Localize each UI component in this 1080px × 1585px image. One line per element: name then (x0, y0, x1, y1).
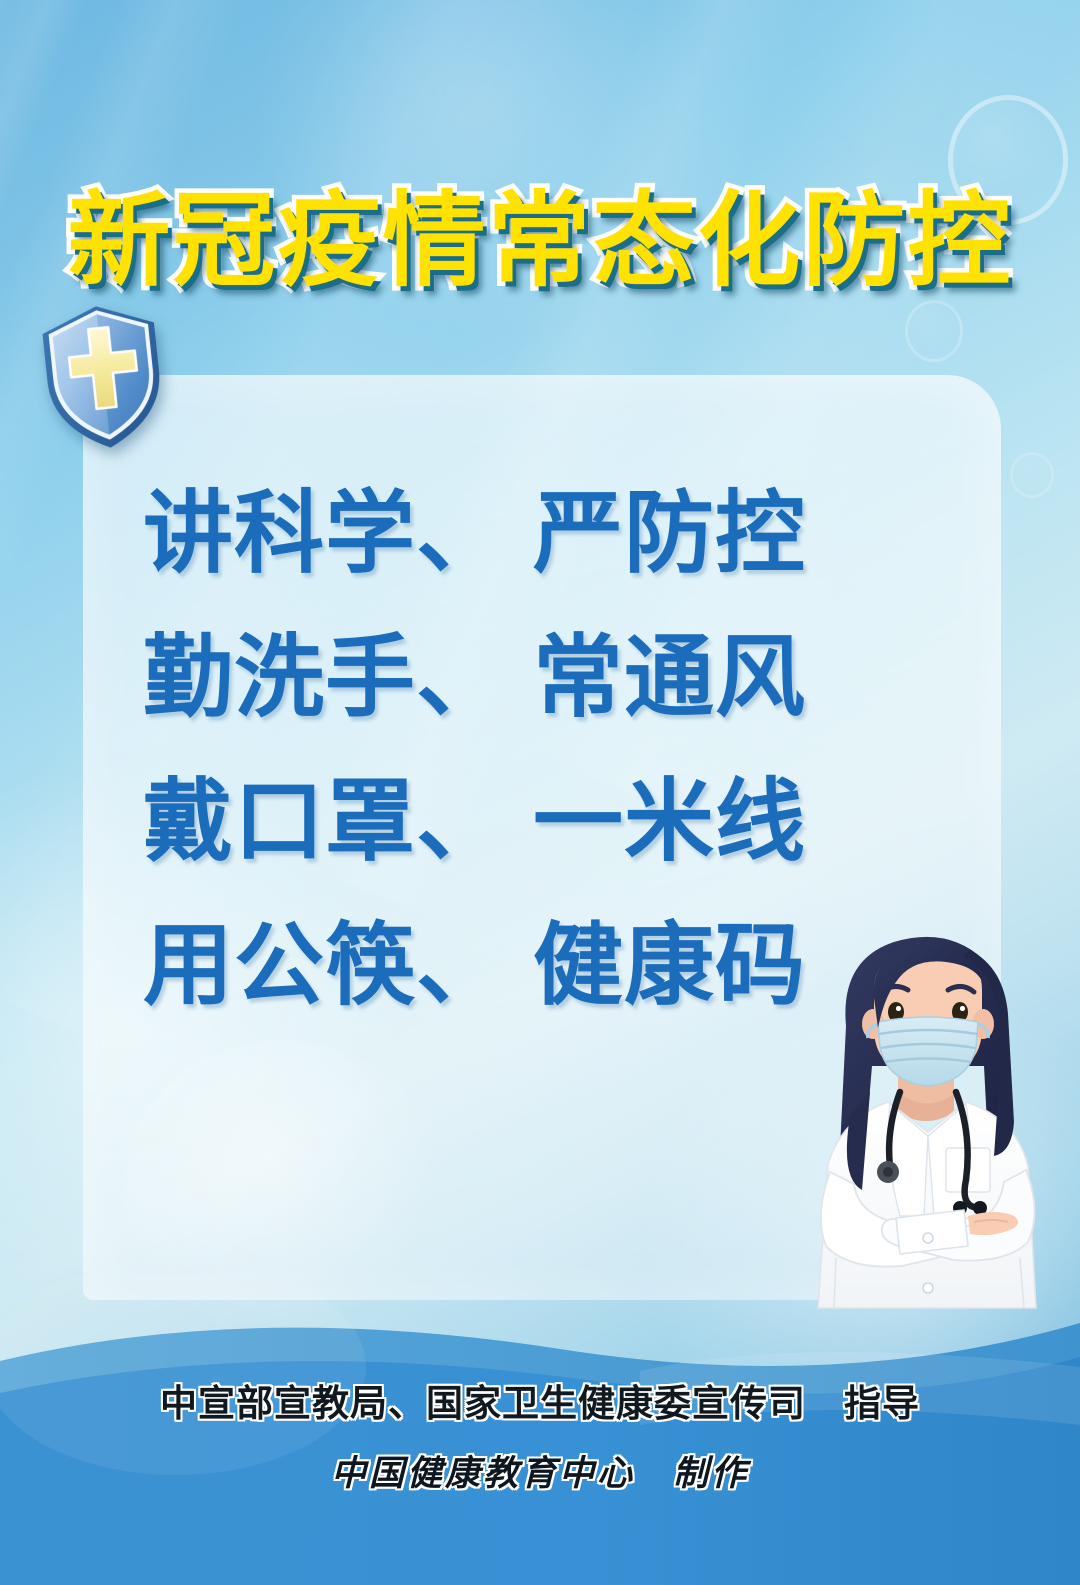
bubble-decor-icon (905, 300, 963, 362)
bubble-decor-icon (1010, 452, 1054, 498)
slogan-left: 勤洗手、 (143, 604, 533, 734)
slogan-left: 讲科学、 (143, 460, 533, 590)
slogan-left: 戴口罩、 (143, 748, 533, 878)
slogan-line: 讲科学、 严防控 (83, 460, 1001, 604)
footer-line-producer: 中国健康教育中心 制作 (0, 1445, 1080, 1496)
footer: 中宣部宣教局、国家卫生健康委宣传司 指导 中国健康教育中心 制作 (0, 1335, 1080, 1585)
slogan-right: 一米线 (533, 748, 806, 878)
page-title-text: 新冠疫情常态化防控 (68, 186, 1013, 297)
shield-cross-icon (25, 291, 180, 457)
doctor-illustration (778, 916, 1078, 1336)
slogan-right: 常通风 (533, 604, 806, 734)
slogan-right: 健康码 (533, 892, 806, 1022)
page-title: 新冠疫情常态化防控 (0, 186, 1080, 297)
slogan-line: 戴口罩、 一米线 (83, 748, 1001, 892)
poster-root: 新冠疫情常态化防控 (0, 0, 1080, 1585)
footer-line-guidance: 中宣部宣教局、国家卫生健康委宣传司 指导 (0, 1373, 1080, 1427)
slogan-line: 勤洗手、 常通风 (83, 604, 1001, 748)
slogan-left: 用公筷、 (143, 892, 533, 1022)
slogan-right: 严防控 (533, 460, 806, 590)
